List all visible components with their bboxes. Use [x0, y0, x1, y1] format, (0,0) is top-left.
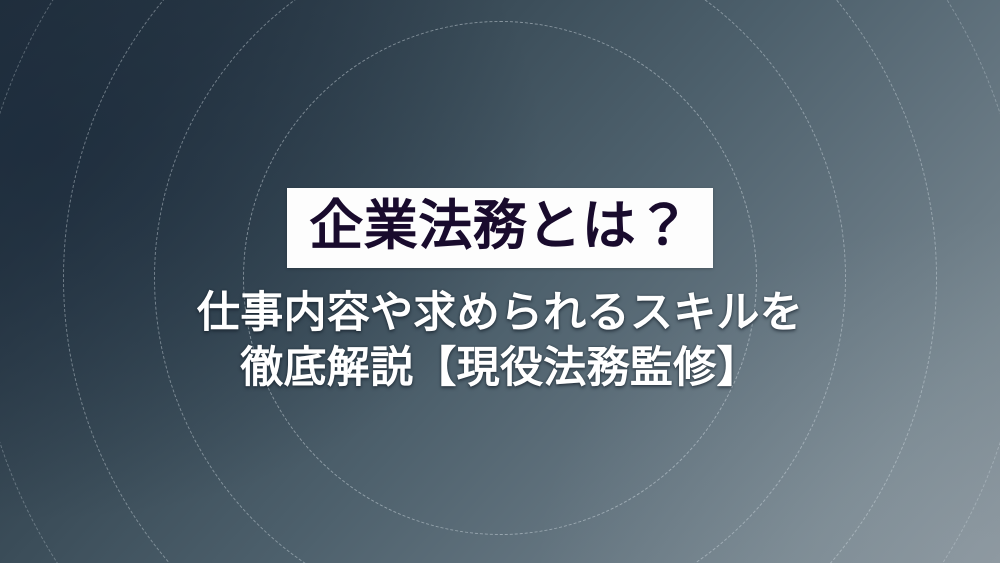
page-title: 企業法務とは？	[309, 193, 691, 259]
title-plate: 企業法務とは？	[287, 188, 713, 268]
subtitle-line-1: 仕事内容や求められるスキルを	[197, 286, 803, 341]
subtitle-line-2: 徹底解説【現役法務監修】	[197, 341, 803, 396]
title-slide: 企業法務とは？ 仕事内容や求められるスキルを 徹底解説【現役法務監修】	[0, 0, 1000, 563]
slide-content: 企業法務とは？ 仕事内容や求められるスキルを 徹底解説【現役法務監修】	[0, 0, 1000, 563]
subtitle: 仕事内容や求められるスキルを 徹底解説【現役法務監修】	[197, 286, 803, 396]
